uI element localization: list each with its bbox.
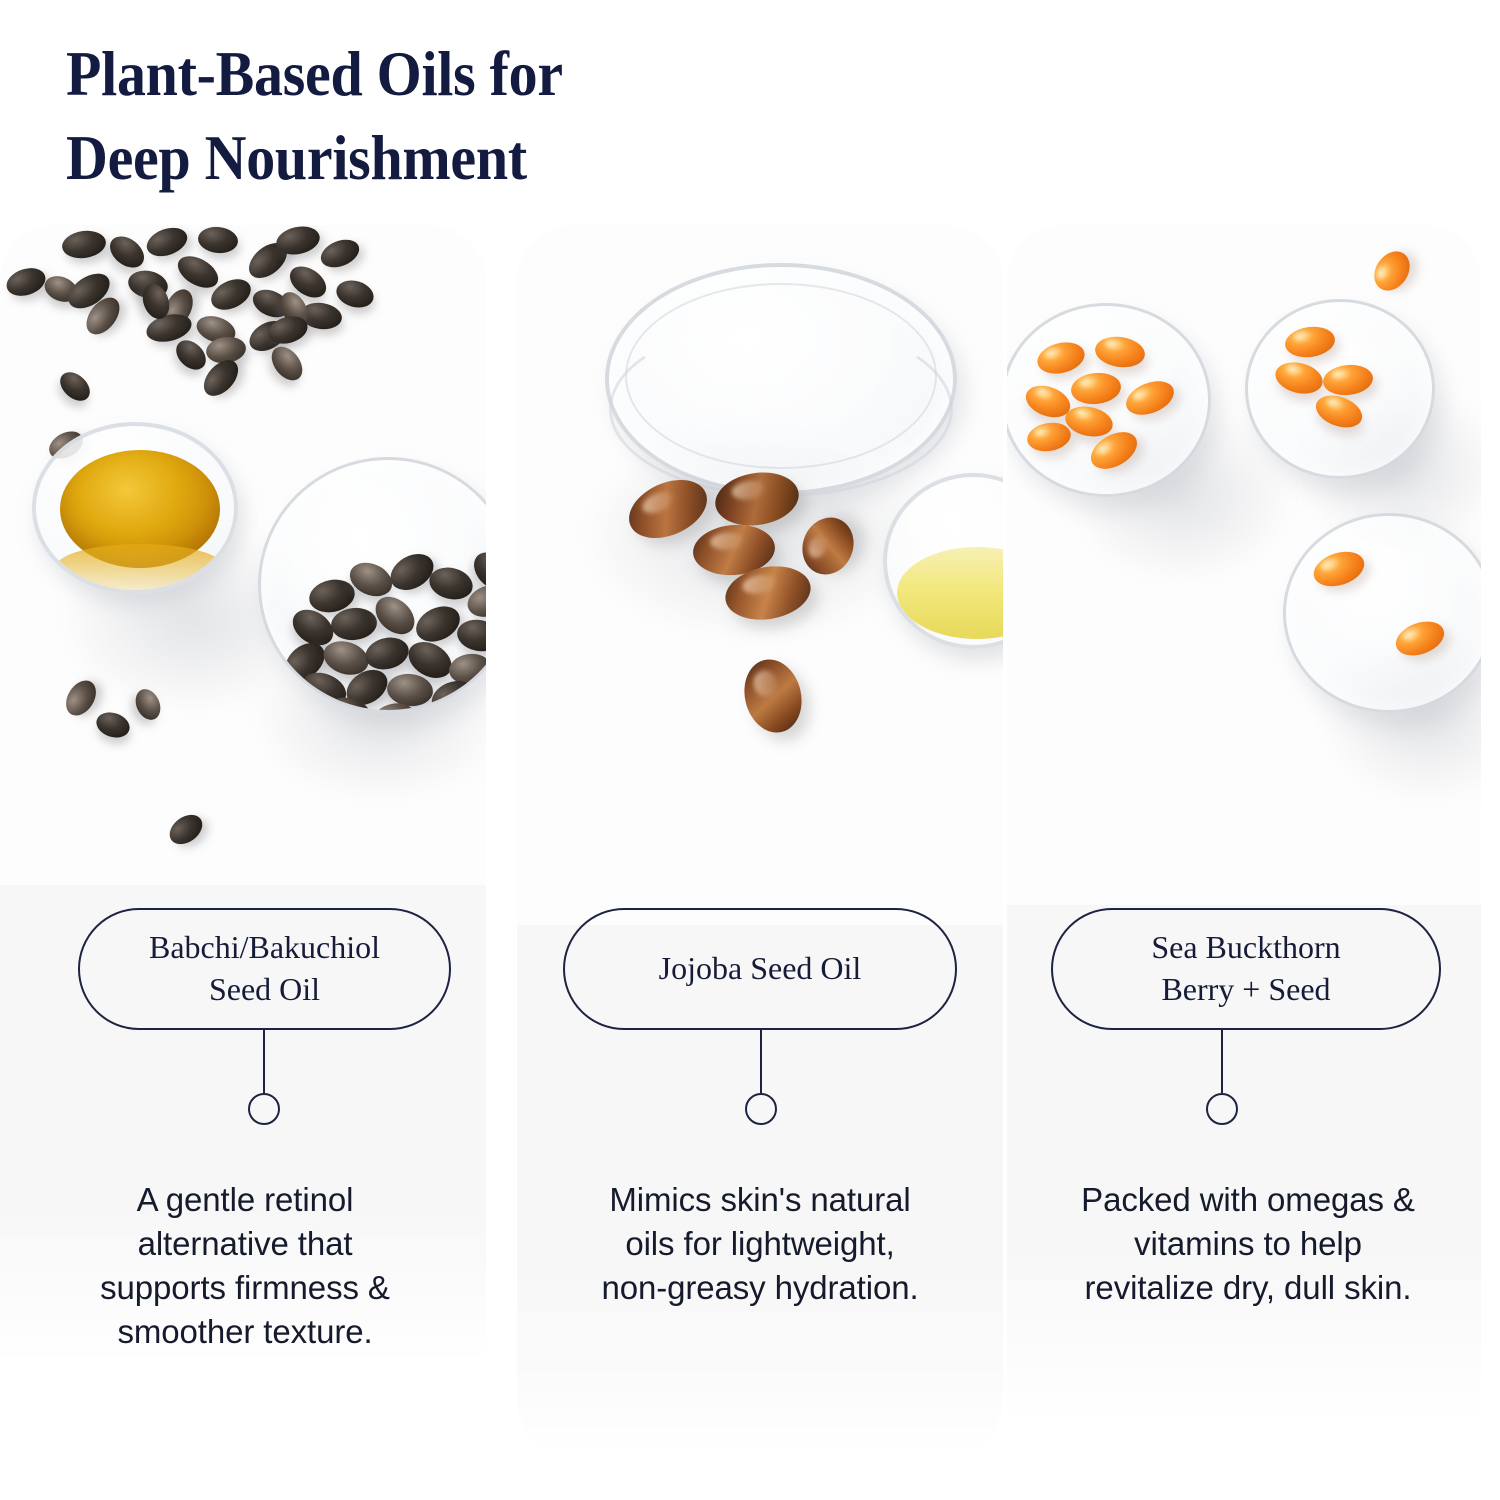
- seed: [368, 589, 421, 641]
- ingredient-columns: Babchi/Bakuchiol Seed Oil A gentle retin…: [0, 0, 1500, 1500]
- seed: [333, 276, 377, 311]
- jojoba-seed: [737, 653, 809, 738]
- bowl-rim-refraction: [56, 544, 224, 590]
- seed: [104, 230, 150, 274]
- ingredient-description-sea-buckthorn: Packed with omegas & vitamins to help re…: [1033, 1178, 1463, 1310]
- photo-babchi-seeds-and-oil: [0, 225, 486, 885]
- ingredient-pill-label: Jojoba Seed Oil: [659, 948, 862, 990]
- ingredient-description-babchi: A gentle retinol alternative that suppor…: [40, 1178, 450, 1354]
- photo-sea-buckthorn-berries: [1007, 225, 1481, 905]
- ingredient-pill-babchi[interactable]: Babchi/Bakuchiol Seed Oil: [78, 908, 451, 1030]
- seed: [317, 234, 363, 272]
- glass-bowl-babchi-seeds: [258, 457, 486, 713]
- ingredient-pill-label: Sea Buckthorn Berry + Seed: [1151, 927, 1340, 1010]
- ingredient-column-sea-buckthorn: Sea Buckthorn Berry + Seed Packed with o…: [1007, 0, 1493, 1500]
- ingredient-pill-sea-buckthorn[interactable]: Sea Buckthorn Berry + Seed: [1051, 908, 1441, 1030]
- seed: [197, 225, 239, 255]
- connector-node-circle-icon: [745, 1093, 777, 1125]
- ingredient-description-jojoba: Mimics skin's natural oils for lightweig…: [545, 1178, 975, 1310]
- seed: [170, 335, 211, 376]
- sea-buckthorn-berry: [1367, 245, 1417, 298]
- seed: [3, 263, 49, 300]
- petri-dish-wall: [609, 321, 953, 497]
- infographic-canvas: Plant-Based Oils for Deep Nourishment: [0, 0, 1500, 1500]
- seed: [93, 708, 133, 741]
- pill-connector-line: [263, 1030, 265, 1093]
- pill-connector-line: [760, 1030, 762, 1093]
- jojoba-oil-liquid: [897, 547, 1003, 639]
- ingredient-pill-jojoba[interactable]: Jojoba Seed Oil: [563, 908, 957, 1030]
- connector-node-circle-icon: [1206, 1093, 1238, 1125]
- ingredient-pill-label: Babchi/Bakuchiol Seed Oil: [149, 927, 380, 1010]
- glass-petri-dish-lower-right: [1283, 513, 1481, 713]
- ingredient-column-jojoba: Jojoba Seed Oil Mimics skin's natural oi…: [517, 0, 1003, 1500]
- glass-bowl-babchi-oil: [32, 422, 238, 594]
- seed: [164, 809, 208, 850]
- photo-jojoba-seeds-and-dish: [517, 225, 1003, 925]
- seed: [362, 633, 412, 674]
- ingredient-column-babchi: Babchi/Bakuchiol Seed Oil A gentle retin…: [0, 0, 486, 1500]
- pill-connector-line: [1221, 1030, 1223, 1093]
- connector-node-circle-icon: [248, 1093, 280, 1125]
- seed: [60, 228, 107, 261]
- seed: [55, 367, 96, 407]
